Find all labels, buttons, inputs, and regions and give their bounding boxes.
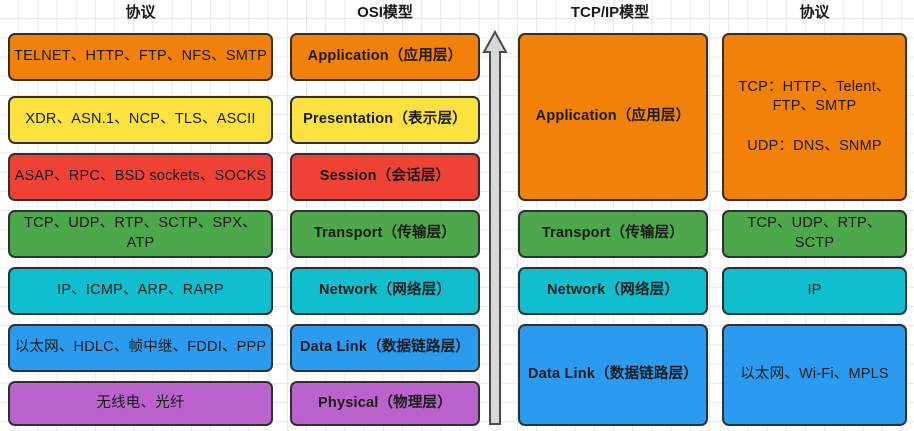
protocol-box-label: IP <box>724 281 905 301</box>
osi-layer-label: Application（应用层） <box>292 47 478 67</box>
osi-layer-label: Presentation（表示层） <box>292 110 478 130</box>
protocol-box-network-left[interactable]: IP、ICMP、ARP、RARP <box>8 267 273 315</box>
osi-layer-session[interactable]: Session（会话层） <box>290 153 480 201</box>
upward-arrow-icon <box>482 30 508 426</box>
osi-layer-transport[interactable]: Transport（传输层） <box>290 210 480 258</box>
osi-layer-label: Session（会话层） <box>292 167 478 187</box>
tcpip-layer-label: Transport（传输层） <box>520 224 706 244</box>
column-header-osi-model: OSI模型 <box>290 2 480 24</box>
protocol-box-datalink-right[interactable]: 以太网、Wi-Fi、MPLS <box>722 324 907 426</box>
tcpip-layer-label: Data Link（数据链路层） <box>520 365 706 385</box>
osi-layer-datalink[interactable]: Data Link（数据链路层） <box>290 324 480 372</box>
tcpip-layer-application[interactable]: Application（应用层） <box>518 33 708 201</box>
tcpip-layer-label: Application（应用层） <box>520 107 706 127</box>
protocol-box-label: TCP、UDP、RTP、SCTP、SPX、ATP <box>10 214 271 253</box>
protocol-box-label: 无线电、光纤 <box>10 394 271 414</box>
column-header-protocols-left: 协议 <box>8 2 273 24</box>
protocol-box-label: XDR、ASN.1、NCP、TLS、ASCII <box>10 110 271 130</box>
protocol-box-transport-right[interactable]: TCP、UDP、RTP、SCTP <box>722 210 907 258</box>
osi-layer-network[interactable]: Network（网络层） <box>290 267 480 315</box>
column-header-protocols-right: 协议 <box>722 2 907 24</box>
protocol-box-transport-left[interactable]: TCP、UDP、RTP、SCTP、SPX、ATP <box>8 210 273 258</box>
tcpip-layer-datalink[interactable]: Data Link（数据链路层） <box>518 324 708 426</box>
protocol-box-label: ASAP、RPC、BSD sockets、SOCKS <box>10 167 271 187</box>
osi-layer-label: Network（网络层） <box>292 281 478 301</box>
osi-layer-presentation[interactable]: Presentation（表示层） <box>290 96 480 144</box>
column-header-tcpip-model: TCP/IP模型 <box>515 2 705 24</box>
tcpip-layer-network[interactable]: Network（网络层） <box>518 267 708 315</box>
osi-layer-physical[interactable]: Physical（物理层） <box>290 381 480 426</box>
osi-layer-label: Physical（物理层） <box>292 394 478 414</box>
diagram-canvas: 协议 OSI模型 TCP/IP模型 协议 TELNET、HTTP、FTP、NFS… <box>0 0 914 431</box>
osi-layer-label: Transport（传输层） <box>292 224 478 244</box>
tcpip-layer-label: Network（网络层） <box>520 281 706 301</box>
protocol-box-label: TCP：HTTP、Telent、 FTP、SMTP UDP：DNS、SNMP <box>724 78 905 156</box>
protocol-box-network-right[interactable]: IP <box>722 267 907 315</box>
tcpip-layer-transport[interactable]: Transport（传输层） <box>518 210 708 258</box>
protocol-box-session-left[interactable]: ASAP、RPC、BSD sockets、SOCKS <box>8 153 273 201</box>
protocol-box-label: 以太网、Wi-Fi、MPLS <box>724 365 905 385</box>
protocol-box-application-left[interactable]: TELNET、HTTP、FTP、NFS、SMTP <box>8 33 273 81</box>
protocol-box-label: TCP、UDP、RTP、SCTP <box>724 214 905 253</box>
protocol-box-label: 以太网、HDLC、帧中继、FDDI、PPP <box>10 338 271 358</box>
protocol-box-datalink-left[interactable]: 以太网、HDLC、帧中继、FDDI、PPP <box>8 324 273 372</box>
osi-layer-application[interactable]: Application（应用层） <box>290 33 480 81</box>
protocol-box-application-right[interactable]: TCP：HTTP、Telent、 FTP、SMTP UDP：DNS、SNMP <box>722 33 907 201</box>
protocol-box-label: TELNET、HTTP、FTP、NFS、SMTP <box>10 47 271 67</box>
osi-layer-label: Data Link（数据链路层） <box>292 338 478 358</box>
protocol-box-presentation-left[interactable]: XDR、ASN.1、NCP、TLS、ASCII <box>8 96 273 144</box>
protocol-box-physical-left[interactable]: 无线电、光纤 <box>8 381 273 426</box>
protocol-box-label: IP、ICMP、ARP、RARP <box>10 281 271 301</box>
